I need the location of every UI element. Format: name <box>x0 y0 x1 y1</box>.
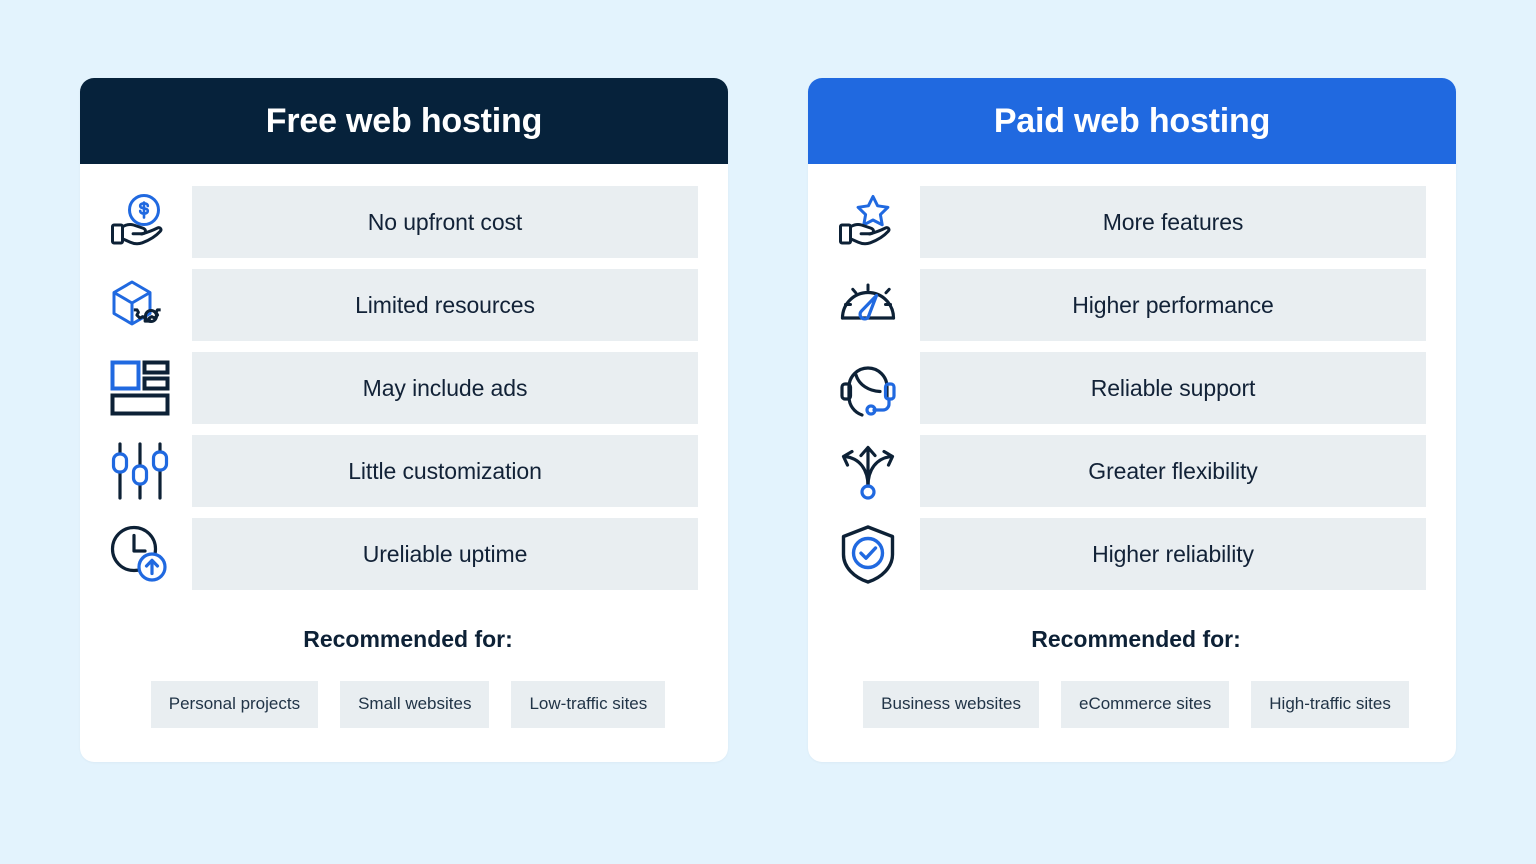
recommended-tag: Personal projects <box>151 681 318 728</box>
paid-hosting-card: Paid web hosting More features <box>808 78 1456 762</box>
feature-label: Limited resources <box>192 269 698 341</box>
feature-row: More features <box>832 186 1426 258</box>
hand-holding-star-icon <box>832 186 904 258</box>
recommended-tag: Small websites <box>340 681 489 728</box>
feature-row: Limited resources <box>104 269 698 341</box>
free-hosting-card-body: No upfront cost Limited resources <box>80 164 728 762</box>
box-gear-icon <box>104 269 176 341</box>
headset-support-icon <box>832 352 904 424</box>
feature-row: May include ads <box>104 352 698 424</box>
feature-label: More features <box>920 186 1426 258</box>
feature-label: No upfront cost <box>192 186 698 258</box>
paid-hosting-card-header: Paid web hosting <box>808 78 1456 164</box>
feature-label: Higher reliability <box>920 518 1426 590</box>
clock-arrow-up-icon <box>104 518 176 590</box>
feature-label: Ureliable uptime <box>192 518 698 590</box>
feature-label: Little customization <box>192 435 698 507</box>
hand-holding-coin-icon <box>104 186 176 258</box>
paid-hosting-card-body: More features Higher performance <box>808 164 1456 762</box>
feature-row: No upfront cost <box>104 186 698 258</box>
recommended-tag-list: Business websites eCommerce sites High-t… <box>832 681 1426 728</box>
recommended-for-title: Recommended for: <box>832 626 1426 653</box>
recommended-tag: eCommerce sites <box>1061 681 1229 728</box>
feature-row: Greater flexibility <box>832 435 1426 507</box>
three-way-arrows-icon <box>832 435 904 507</box>
recommended-tag: High-traffic sites <box>1251 681 1409 728</box>
feature-row: Higher reliability <box>832 518 1426 590</box>
free-hosting-feature-list: No upfront cost Limited resources <box>104 186 698 590</box>
feature-row: Ureliable uptime <box>104 518 698 590</box>
recommended-tag-list: Personal projects Small websites Low-tra… <box>104 681 698 728</box>
comparison-board: Free web hosting No upfront c <box>0 0 1536 864</box>
feature-row: Reliable support <box>832 352 1426 424</box>
free-hosting-title: Free web hosting <box>266 104 542 138</box>
feature-label: Higher performance <box>920 269 1426 341</box>
recommended-tag: Business websites <box>863 681 1039 728</box>
free-hosting-card-header: Free web hosting <box>80 78 728 164</box>
feature-label: Reliable support <box>920 352 1426 424</box>
feature-row: Higher performance <box>832 269 1426 341</box>
feature-row: Little customization <box>104 435 698 507</box>
paid-hosting-title: Paid web hosting <box>994 104 1270 138</box>
shield-check-icon <box>832 518 904 590</box>
sliders-icon <box>104 435 176 507</box>
feature-label: Greater flexibility <box>920 435 1426 507</box>
recommended-tag: Low-traffic sites <box>511 681 665 728</box>
recommended-for-title: Recommended for: <box>104 626 698 653</box>
free-hosting-card: Free web hosting No upfront c <box>80 78 728 762</box>
feature-label: May include ads <box>192 352 698 424</box>
speedometer-icon <box>832 269 904 341</box>
paid-hosting-feature-list: More features Higher performance <box>832 186 1426 590</box>
ad-layout-icon <box>104 352 176 424</box>
